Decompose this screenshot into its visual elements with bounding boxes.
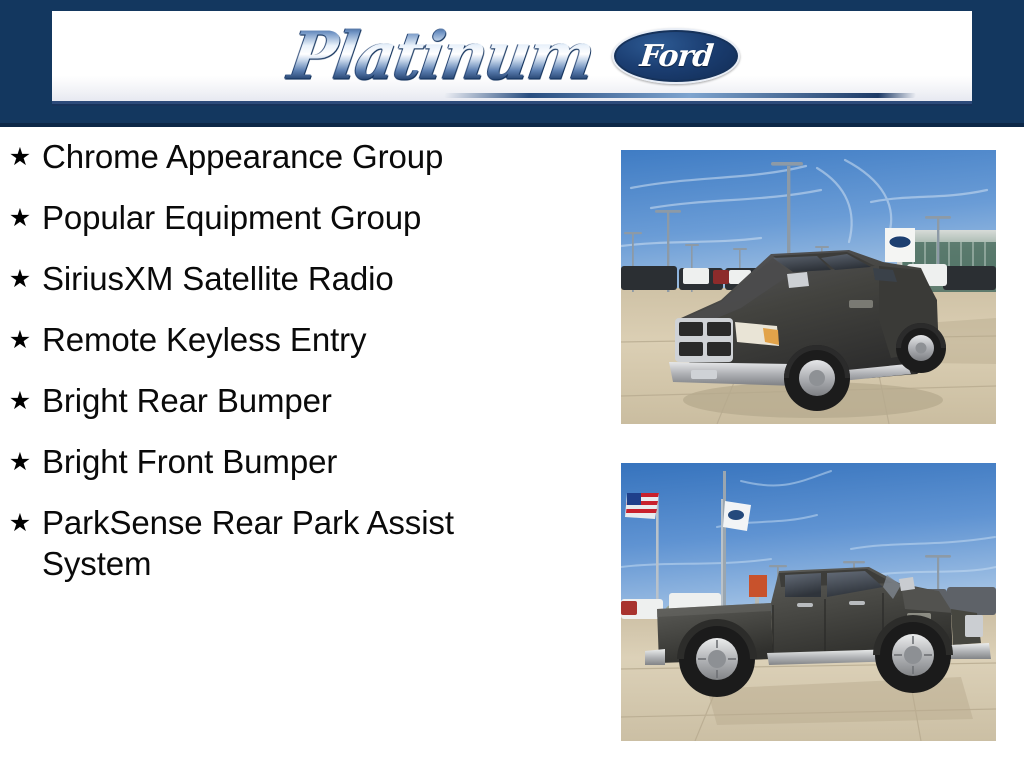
- feature-label: Remote Keyless Entry: [42, 319, 562, 360]
- list-item: ★ Remote Keyless Entry: [0, 319, 600, 360]
- dealer-name-wordmark: Platinum: [279, 23, 604, 89]
- star-icon: ★: [0, 136, 40, 177]
- feature-label: ParkSense Rear Park Assist System: [42, 502, 482, 584]
- star-icon: ★: [0, 441, 40, 482]
- list-item: ★ Bright Rear Bumper: [0, 380, 600, 421]
- list-item: ★ SiriusXM Satellite Radio: [0, 258, 600, 299]
- feature-label: Popular Equipment Group: [42, 197, 562, 238]
- feature-label: Chrome Appearance Group: [42, 136, 482, 177]
- list-item: ★ Chrome Appearance Group: [0, 136, 600, 177]
- star-icon: ★: [0, 502, 40, 543]
- star-icon: ★: [0, 380, 40, 421]
- dealer-header-band: Platinum Ford: [0, 0, 1024, 127]
- list-item: ★ Bright Front Bumper: [0, 441, 600, 482]
- feature-label: Bright Front Bumper: [42, 441, 562, 482]
- vehicle-photo-side-profile[interactable]: [621, 463, 996, 741]
- wordmark-underline-flourish: [443, 93, 916, 98]
- vehicle-feature-list: ★ Chrome Appearance Group ★ Popular Equi…: [0, 136, 600, 584]
- star-icon: ★: [0, 319, 40, 360]
- star-icon: ★: [0, 197, 40, 238]
- vehicle-photo-front-three-quarter[interactable]: [621, 150, 996, 424]
- header-bottom-edge: [0, 123, 1024, 127]
- feature-label: Bright Rear Bumper: [42, 380, 562, 421]
- dealer-logo-plate[interactable]: Platinum Ford: [52, 11, 972, 101]
- star-icon: ★: [0, 258, 40, 299]
- ford-oval-icon: Ford: [612, 28, 740, 84]
- brand-name-label: Ford: [638, 39, 714, 74]
- list-item: ★ Popular Equipment Group: [0, 197, 600, 238]
- list-item: ★ ParkSense Rear Park Assist System: [0, 502, 600, 584]
- feature-label: SiriusXM Satellite Radio: [42, 258, 562, 299]
